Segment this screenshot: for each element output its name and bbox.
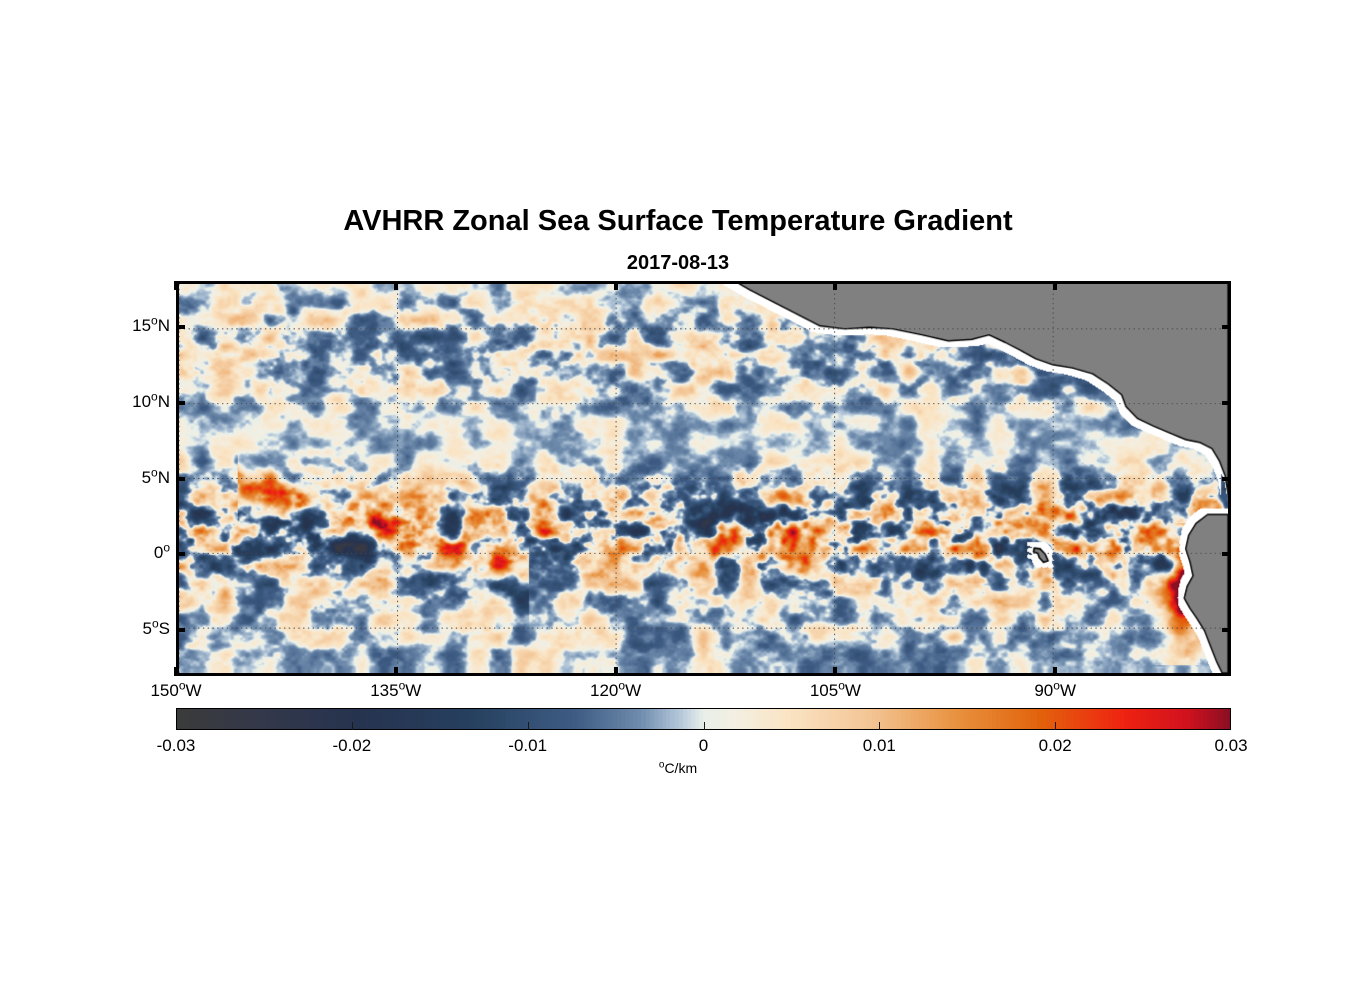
page-title: AVHRR Zonal Sea Surface Temperature Grad…	[0, 205, 1356, 238]
x-axis-tick-label: 150oW	[150, 681, 201, 701]
x-tick-mark	[1053, 667, 1057, 676]
y-tick-mark	[176, 401, 185, 405]
y-tick-mark-right	[1222, 401, 1231, 405]
y-tick-mark	[176, 477, 185, 481]
figure-root: AVHRR Zonal Sea Surface Temperature Grad…	[0, 0, 1356, 1000]
sst-gradient-heatmap	[179, 284, 1228, 673]
y-tick-mark	[176, 628, 185, 632]
x-tick-mark	[614, 667, 618, 676]
x-axis-tick-label: 105oW	[810, 681, 861, 701]
map-axes	[176, 281, 1231, 676]
x-tick-mark-top	[174, 281, 178, 290]
x-tick-mark-top	[614, 281, 618, 290]
colorbar-unit-label: oC/km	[0, 760, 1356, 776]
x-tick-mark-top	[1053, 281, 1057, 290]
x-tick-mark-top	[394, 281, 398, 290]
x-tick-mark	[394, 667, 398, 676]
colorbar-tick-label: 0	[699, 736, 708, 756]
y-tick-mark-right	[1222, 325, 1231, 329]
x-tick-mark-top	[833, 281, 837, 290]
colorbar-tick-label: -0.02	[332, 736, 371, 756]
colorbar-tick-mark	[528, 722, 529, 730]
x-tick-mark	[833, 667, 837, 676]
colorbar-tick-mark	[879, 722, 880, 730]
colorbar-tick-mark	[704, 722, 705, 730]
colorbar-tick-mark	[352, 722, 353, 730]
y-tick-mark-right	[1222, 552, 1231, 556]
y-tick-mark-right	[1222, 628, 1231, 632]
x-tick-mark	[174, 667, 178, 676]
y-axis-tick-label: 5oS	[143, 619, 171, 639]
colorbar-tick-label: 0.02	[1039, 736, 1072, 756]
colorbar-tick-label: -0.01	[508, 736, 547, 756]
colorbar-tick-label: 0.01	[863, 736, 896, 756]
y-tick-mark-right	[1222, 477, 1231, 481]
y-axis-tick-label: 10oN	[132, 392, 170, 412]
x-axis-tick-label: 120oW	[590, 681, 641, 701]
y-axis-tick-label: 0o	[154, 543, 170, 563]
colorbar-tick-mark	[1055, 722, 1056, 730]
y-tick-mark	[176, 325, 185, 329]
y-axis-tick-label: 15oN	[132, 316, 170, 336]
y-tick-mark	[176, 552, 185, 556]
x-axis-tick-label: 135oW	[370, 681, 421, 701]
colorbar-tick-label: 0.03	[1214, 736, 1247, 756]
colorbar-tick-label: -0.03	[157, 736, 196, 756]
figure-subtitle: 2017-08-13	[0, 252, 1356, 275]
y-axis-tick-label: 5oN	[142, 468, 170, 488]
x-axis-tick-label: 90oW	[1034, 681, 1076, 701]
